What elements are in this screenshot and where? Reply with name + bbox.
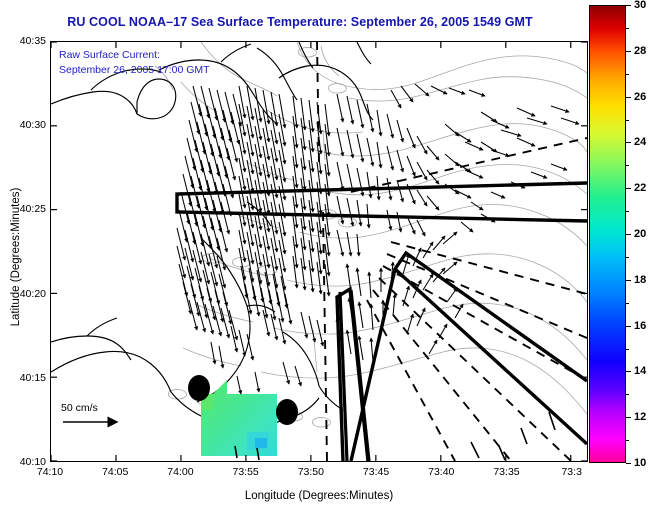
- sst-map-figure: RU COOL NOAA–17 Sea Surface Temperature:…: [0, 0, 651, 518]
- map-plot-area[interactable]: Raw Surface Current: September 26, 2005 …: [50, 41, 588, 462]
- annotation-line-2: September 26, 2005 17:00 GMT: [59, 63, 210, 78]
- colorbar-minor-tick: [626, 440, 629, 441]
- colorbar-tick-label: 14: [634, 365, 646, 377]
- colorbar-tick-label: 20: [634, 228, 646, 240]
- colorbar-tick-mark: [626, 371, 631, 372]
- colorbar[interactable]: 3028262422201816141210: [589, 5, 626, 463]
- colorbar-tick-mark: [626, 51, 631, 52]
- x-tick-label: 74:00: [167, 466, 193, 478]
- colorbar-tick-label: 10: [634, 457, 646, 469]
- colorbar-tick-mark: [626, 417, 631, 418]
- colorbar-tick-mark: [626, 142, 631, 143]
- colorbar-tick-label: 26: [634, 91, 646, 103]
- x-tick-label: 73:50: [298, 466, 324, 478]
- annotation-block: Raw Surface Current: September 26, 2005 …: [59, 48, 210, 78]
- colorbar-minor-tick: [626, 303, 629, 304]
- scale-bar-arrow-icon: [61, 414, 131, 430]
- colorbar-minor-tick: [626, 165, 629, 166]
- colorbar-minor-tick: [626, 74, 629, 75]
- colorbar-tick-mark: [626, 5, 631, 6]
- colorbar-tick-label: 12: [634, 411, 646, 423]
- colorbar-tick-mark: [626, 97, 631, 98]
- colorbar-tick-label: 24: [634, 136, 646, 148]
- colorbar-tick-mark: [626, 463, 631, 464]
- x-tick-label: 74:05: [102, 466, 128, 478]
- scale-bar: 50 cm/s: [61, 402, 131, 435]
- colorbar-tick-label: 22: [634, 182, 646, 194]
- y-axis-title: Latitude (Degrees:Minutes): [10, 157, 22, 357]
- figure-title: RU COOL NOAA–17 Sea Surface Temperature:…: [0, 15, 600, 29]
- colorbar-tick-mark: [626, 280, 631, 281]
- colorbar-minor-tick: [626, 394, 629, 395]
- colorbar-tick-mark: [626, 326, 631, 327]
- colorbar-tick-mark: [626, 234, 631, 235]
- x-tick-label: 73:3: [561, 466, 581, 478]
- map-canvas: [51, 42, 587, 461]
- colorbar-minor-tick: [626, 211, 629, 212]
- colorbar-minor-tick: [626, 349, 629, 350]
- colorbar-tick-label: 28: [634, 45, 646, 57]
- colorbar-minor-tick: [626, 120, 629, 121]
- x-tick-label: 73:40: [428, 466, 454, 478]
- colorbar-minor-tick: [626, 28, 629, 29]
- y-tick-label: 40:10: [4, 456, 46, 468]
- x-tick-label: 73:55: [232, 466, 258, 478]
- colorbar-tick-label: 16: [634, 320, 646, 332]
- y-tick-label: 40:35: [4, 35, 46, 47]
- y-tick-label: 40:30: [4, 119, 46, 131]
- colorbar-tick-mark: [626, 188, 631, 189]
- x-axis-title: Longitude (Degrees:Minutes): [50, 490, 588, 502]
- colorbar-gradient: [589, 5, 626, 463]
- x-tick-label: 73:35: [493, 466, 519, 478]
- scale-bar-label: 50 cm/s: [61, 402, 131, 414]
- colorbar-tick-label: 30: [634, 0, 646, 11]
- colorbar-minor-tick: [626, 257, 629, 258]
- x-tick-label: 73:45: [363, 466, 389, 478]
- colorbar-tick-label: 18: [634, 274, 646, 286]
- y-tick-label: 40:15: [4, 372, 46, 384]
- annotation-line-1: Raw Surface Current:: [59, 48, 210, 63]
